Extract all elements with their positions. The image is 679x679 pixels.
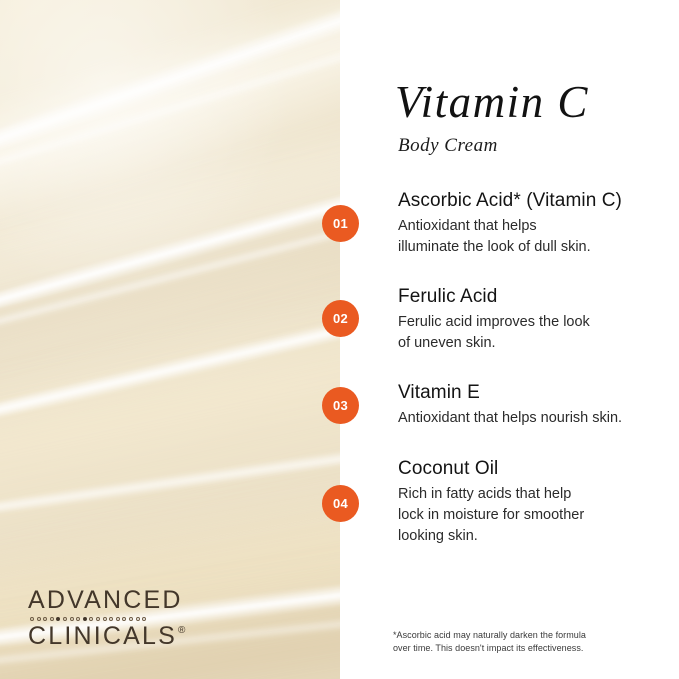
logo-dot bbox=[122, 617, 126, 621]
logo-dot-filled bbox=[83, 617, 87, 621]
footnote-disclaimer: *Ascorbic acid may naturally darken the … bbox=[393, 629, 633, 655]
ingredient-badge-03: 03 bbox=[322, 387, 359, 424]
logo-dot bbox=[109, 617, 113, 621]
ingredient-badge-04: 04 bbox=[322, 485, 359, 522]
logo-dot bbox=[116, 617, 120, 621]
logo-dot bbox=[89, 617, 93, 621]
registered-trademark-icon: ® bbox=[178, 626, 185, 636]
ingredient-title: Vitamin E bbox=[398, 382, 660, 404]
logo-dot bbox=[136, 617, 140, 621]
logo-dot bbox=[30, 617, 34, 621]
ingredient-description: Ferulic acid improves the look of uneven… bbox=[398, 312, 660, 353]
page-title: Vitamin C bbox=[395, 80, 589, 125]
ingredient-description: Rich in fatty acids that help lock in mo… bbox=[398, 484, 660, 546]
ingredient-title: Ferulic Acid bbox=[398, 286, 660, 308]
logo-dot bbox=[43, 617, 47, 621]
ingredient-description-line: Rich in fatty acids that help bbox=[398, 484, 660, 505]
logo-dot bbox=[63, 617, 67, 621]
cream-texture-photo: ADVANCED bbox=[0, 0, 340, 679]
ingredient-description-line: Antioxidant that helps nourish skin. bbox=[398, 408, 660, 429]
ingredient-description-line: Antioxidant that helps bbox=[398, 216, 660, 237]
logo-dot-divider bbox=[30, 617, 185, 621]
ingredient-title: Coconut Oil bbox=[398, 458, 660, 480]
logo-dot bbox=[103, 617, 107, 621]
ingredient-description-line: lock in moisture for smoother bbox=[398, 505, 660, 526]
ingredient-description-line: illuminate the look of dull skin. bbox=[398, 237, 660, 258]
logo-dot bbox=[50, 617, 54, 621]
ingredient-badge-02: 02 bbox=[322, 300, 359, 337]
ingredient-item-01: Ascorbic Acid* (Vitamin C) Antioxidant t… bbox=[398, 190, 660, 258]
footnote-line: *Ascorbic acid may naturally darken the … bbox=[393, 629, 633, 642]
logo-dot bbox=[96, 617, 100, 621]
brand-logo: ADVANCED bbox=[28, 588, 185, 649]
logo-clinicals-text: CLINICALS bbox=[28, 624, 177, 649]
logo-dot bbox=[70, 617, 74, 621]
logo-dot bbox=[142, 617, 146, 621]
logo-dot bbox=[129, 617, 133, 621]
footnote-line: over time. This doesn't impact its effec… bbox=[393, 642, 633, 655]
logo-dot-filled bbox=[56, 617, 60, 621]
ingredient-item-04: Coconut Oil Rich in fatty acids that hel… bbox=[398, 458, 660, 546]
logo-dot bbox=[37, 617, 41, 621]
ingredient-description: Antioxidant that helps illuminate the lo… bbox=[398, 216, 660, 257]
product-infographic: ADVANCED bbox=[0, 0, 679, 679]
page-subtitle: Body Cream bbox=[398, 136, 498, 155]
ingredient-badge-01: 01 bbox=[322, 205, 359, 242]
ingredient-item-03: Vitamin E Antioxidant that helps nourish… bbox=[398, 382, 660, 429]
cream-sheen bbox=[0, 0, 340, 679]
ingredient-description: Antioxidant that helps nourish skin. bbox=[398, 408, 660, 429]
logo-line-advanced: ADVANCED bbox=[28, 588, 185, 613]
logo-line-clinicals: CLINICALS ® bbox=[28, 624, 185, 649]
ingredient-description-line: looking skin. bbox=[398, 526, 660, 547]
logo-dot bbox=[76, 617, 80, 621]
ingredient-title: Ascorbic Acid* (Vitamin C) bbox=[398, 190, 660, 212]
ingredient-description-line: of uneven skin. bbox=[398, 333, 660, 354]
ingredient-item-02: Ferulic Acid Ferulic acid improves the l… bbox=[398, 286, 660, 354]
ingredient-description-line: Ferulic acid improves the look bbox=[398, 312, 660, 333]
